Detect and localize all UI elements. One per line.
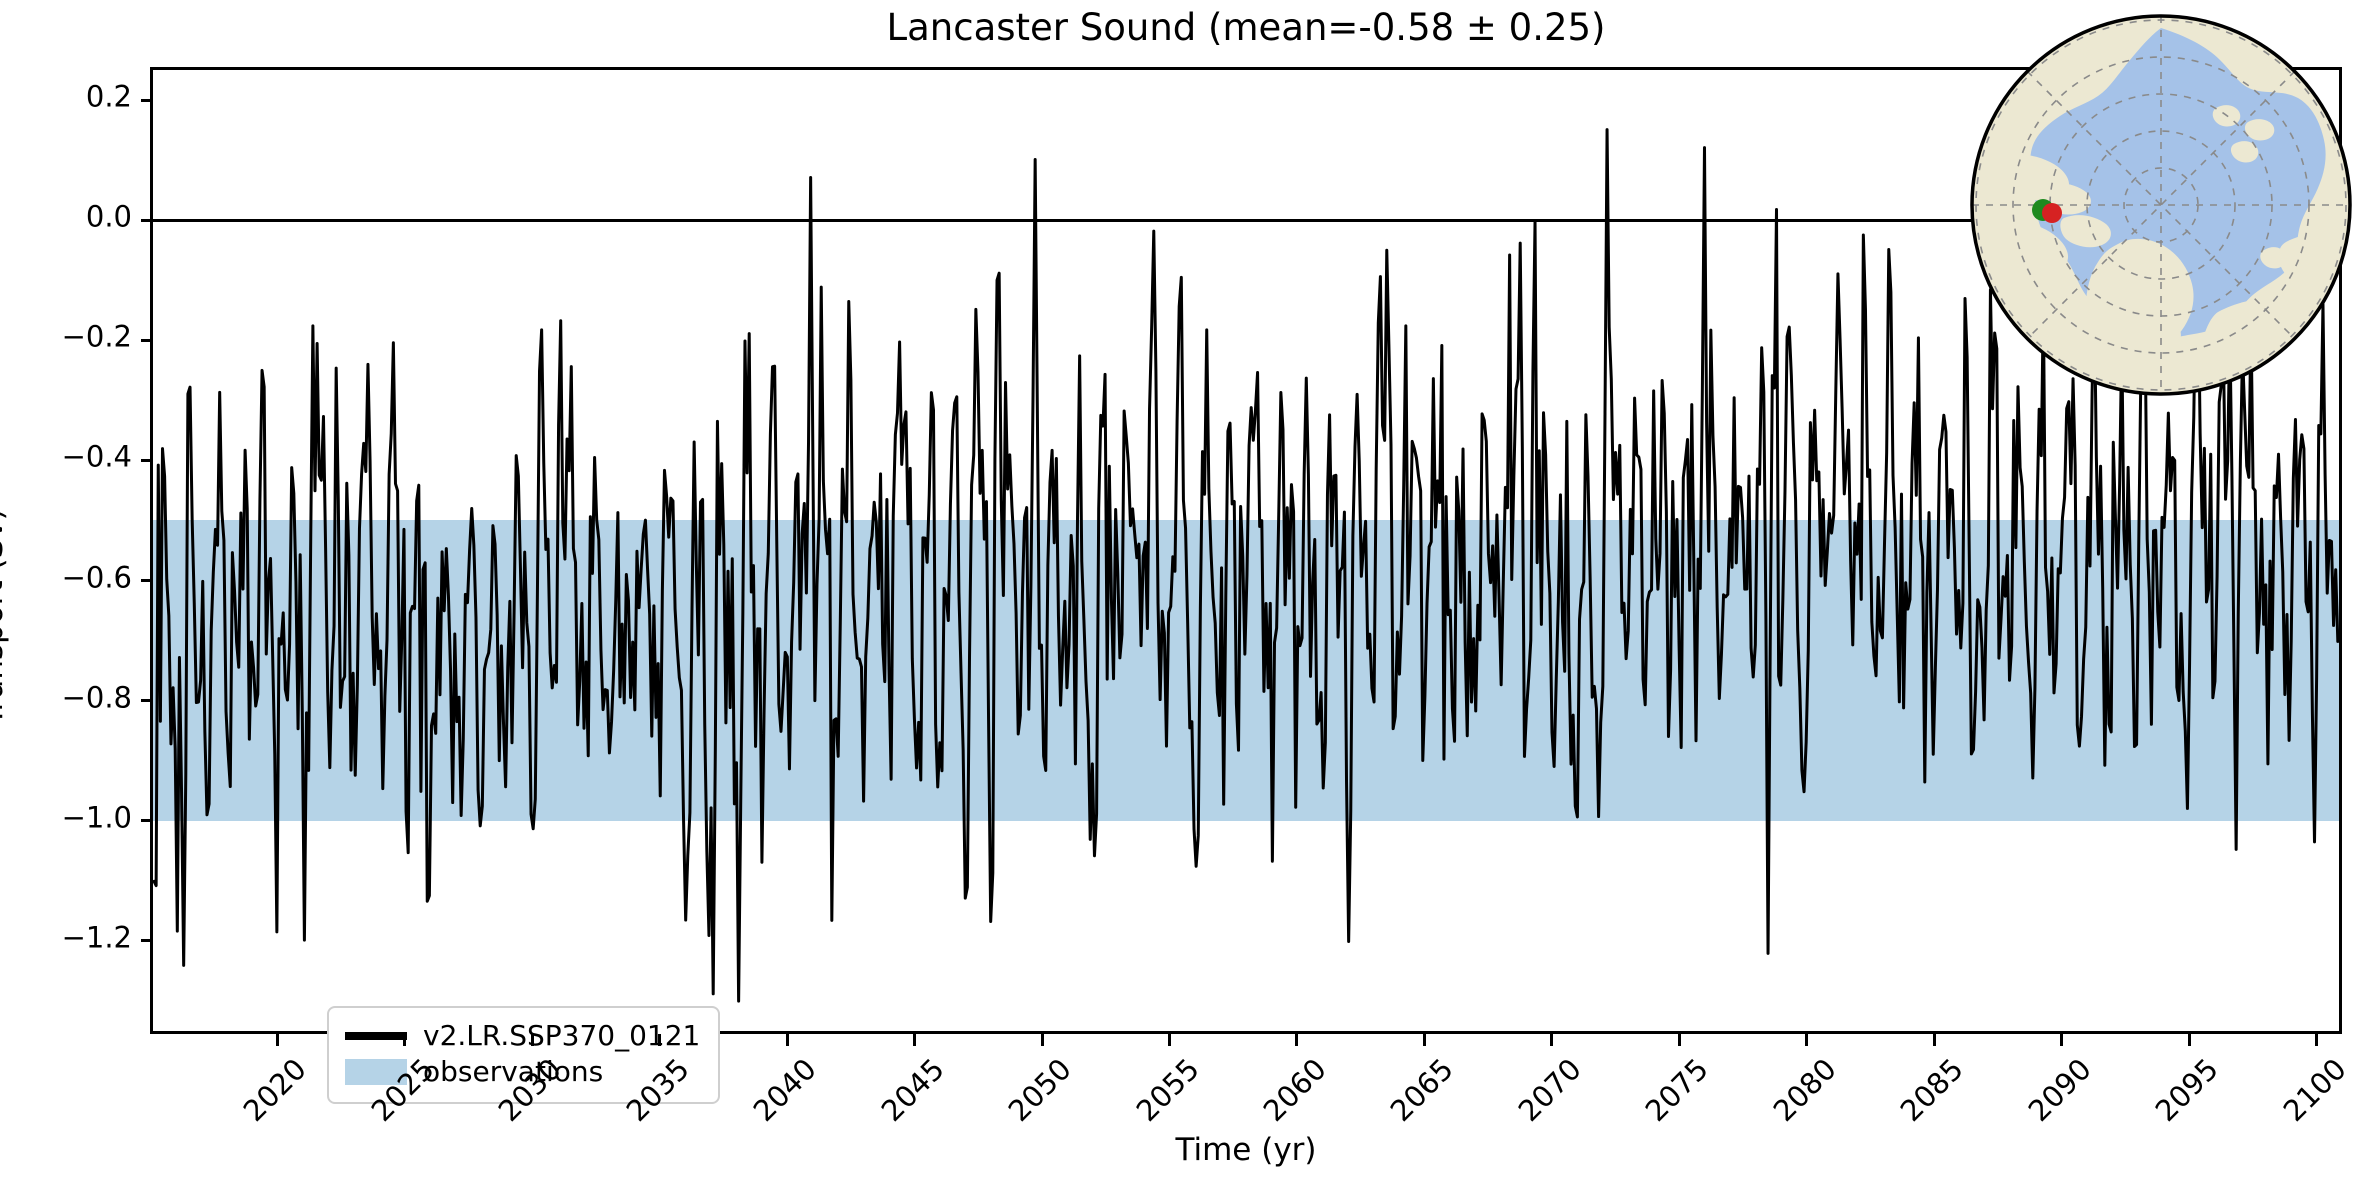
y-axis-labels: Transport (Sv) 0.20.0−0.2−0.4−0.6−0.8−1.… (0, 67, 150, 1034)
figure-canvas: Lancaster Sound (mean=-0.58 ± 0.25) Tran… (0, 0, 2376, 1180)
y-tick-mark (141, 219, 153, 222)
x-tick-mark (1678, 1034, 1681, 1046)
y-tick-label: −0.2 (62, 323, 132, 352)
x-tick-label: 2075 (1641, 1054, 1714, 1127)
arctic-polar-inset-map (1968, 12, 2354, 398)
y-tick-label: −1.2 (62, 923, 132, 952)
y-tick-label: −0.6 (62, 563, 132, 592)
y-tick-mark (141, 699, 153, 702)
y-tick-mark (141, 459, 153, 462)
inset-map-svg (1968, 12, 2354, 398)
y-tick-mark (141, 339, 153, 342)
y-axis-title: Transport (Sv) (0, 508, 10, 726)
x-tick-label: 2025 (367, 1054, 440, 1127)
x-tick-label: 2040 (749, 1054, 822, 1127)
y-tick-label: 0.2 (86, 83, 132, 112)
x-tick-mark (2188, 1034, 2191, 1046)
x-tick-mark (1295, 1034, 1298, 1046)
x-tick-label: 2055 (1131, 1054, 1204, 1127)
x-tick-label: 2090 (2023, 1054, 2096, 1127)
x-tick-label: 2050 (1004, 1054, 1077, 1127)
y-tick-mark (141, 579, 153, 582)
y-tick-mark (141, 99, 153, 102)
y-tick-label: −1.0 (62, 803, 132, 832)
x-tick-label: 2085 (1896, 1054, 1969, 1127)
y-tick-mark (141, 939, 153, 942)
y-tick-label: −0.8 (62, 683, 132, 712)
x-tick-mark (1805, 1034, 1808, 1046)
transect-marker-red-icon (2042, 203, 2062, 223)
y-tick-mark (141, 819, 153, 822)
x-tick-label: 2035 (622, 1054, 695, 1127)
x-tick-mark (1933, 1034, 1936, 1046)
x-tick-mark (658, 1034, 661, 1046)
x-tick-mark (1550, 1034, 1553, 1046)
x-tick-mark (1041, 1034, 1044, 1046)
x-tick-label: 2030 (494, 1054, 567, 1127)
x-tick-mark (786, 1034, 789, 1046)
x-tick-mark (403, 1034, 406, 1046)
x-tick-mark (2315, 1034, 2318, 1046)
x-tick-label: 2065 (1386, 1054, 1459, 1127)
x-tick-label: 2020 (239, 1054, 312, 1127)
x-tick-label: 2070 (1514, 1054, 1587, 1127)
x-tick-mark (2060, 1034, 2063, 1046)
x-tick-mark (1168, 1034, 1171, 1046)
x-tick-label: 2100 (2278, 1054, 2351, 1127)
x-tick-mark (276, 1034, 279, 1046)
x-tick-mark (913, 1034, 916, 1046)
x-tick-mark (1423, 1034, 1426, 1046)
x-tick-mark (531, 1034, 534, 1046)
y-tick-label: −0.4 (62, 443, 132, 472)
x-tick-label: 2095 (2151, 1054, 2224, 1127)
x-tick-label: 2060 (1259, 1054, 1332, 1127)
x-tick-label: 2080 (1769, 1054, 1842, 1127)
x-tick-label: 2045 (876, 1054, 949, 1127)
x-axis-title: Time (yr) (150, 1132, 2342, 1168)
y-tick-label: 0.0 (86, 203, 132, 232)
